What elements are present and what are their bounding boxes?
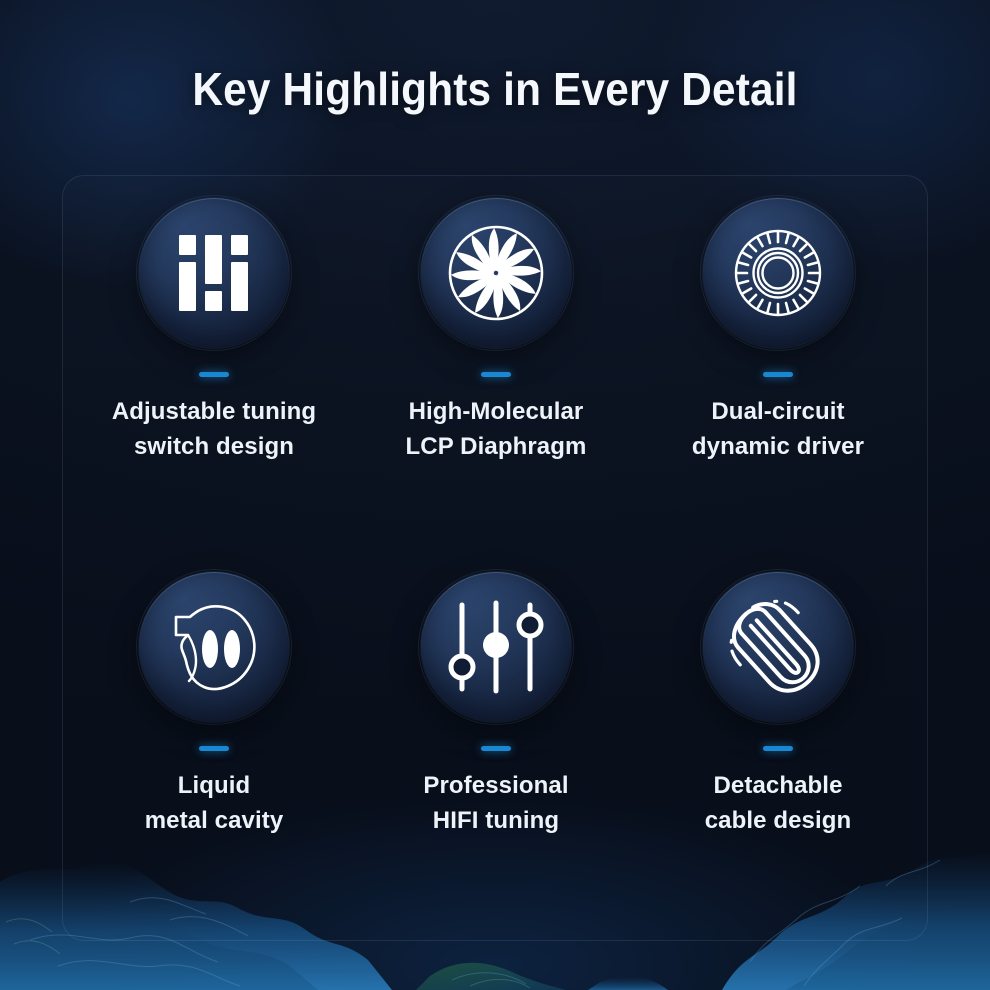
feature-label-line1: Dual-circuit bbox=[692, 395, 864, 430]
feature-label-line2: metal cavity bbox=[145, 804, 284, 839]
feature-label-line2: dynamic driver bbox=[692, 430, 864, 465]
feature-label-line1: Detachable bbox=[705, 769, 852, 804]
accent-divider bbox=[481, 746, 511, 751]
feature-item-tuning-switch[interactable]: Adjustable tuning switch design bbox=[73, 198, 355, 566]
accent-divider bbox=[481, 372, 511, 377]
feature-label: Dual-circuit dynamic driver bbox=[692, 395, 864, 465]
accent-divider bbox=[763, 746, 793, 751]
feature-label-line2: cable design bbox=[705, 804, 852, 839]
hifi-sliders-icon bbox=[448, 599, 544, 695]
feature-label: Liquid metal cavity bbox=[145, 769, 284, 839]
feature-label-line2: switch design bbox=[112, 430, 316, 465]
feature-label-line1: Adjustable tuning bbox=[112, 395, 316, 430]
feature-item-lcp-diaphragm[interactable]: High-Molecular LCP Diaphragm bbox=[355, 198, 637, 566]
accent-divider bbox=[763, 372, 793, 377]
highlights-card: Adjustable tuning switch design bbox=[62, 175, 928, 941]
feature-item-dynamic-driver[interactable]: Dual-circuit dynamic driver bbox=[637, 198, 919, 566]
feature-label-line1: High-Molecular bbox=[406, 395, 587, 430]
feature-badge bbox=[421, 572, 571, 722]
accent-divider bbox=[199, 746, 229, 751]
feature-badge bbox=[139, 572, 289, 722]
dynamic-driver-icon bbox=[726, 221, 830, 325]
feature-label: Adjustable tuning switch design bbox=[112, 395, 316, 465]
promo-page: Key Highlights in Every Detail bbox=[0, 0, 990, 990]
feature-badge bbox=[139, 198, 289, 348]
feature-badge bbox=[703, 198, 853, 348]
feature-label: High-Molecular LCP Diaphragm bbox=[406, 395, 587, 465]
lcp-diaphragm-icon bbox=[444, 221, 548, 325]
page-title: Key Highlights in Every Detail bbox=[40, 62, 951, 116]
feature-label-line1: Liquid bbox=[145, 769, 284, 804]
metal-cavity-icon bbox=[162, 595, 266, 699]
feature-label: Professional HIFI tuning bbox=[423, 769, 568, 839]
feature-label-line1: Professional bbox=[423, 769, 568, 804]
highlights-grid: Adjustable tuning switch design bbox=[63, 176, 929, 942]
feature-badge bbox=[703, 572, 853, 722]
feature-item-metal-cavity[interactable]: Liquid metal cavity bbox=[73, 566, 355, 934]
accent-divider bbox=[199, 372, 229, 377]
feature-label-line2: LCP Diaphragm bbox=[406, 430, 587, 465]
tuning-switch-icon bbox=[175, 235, 253, 311]
feature-item-hifi-tuning[interactable]: Professional HIFI tuning bbox=[355, 566, 637, 934]
feature-label: Detachable cable design bbox=[705, 769, 852, 839]
detachable-cable-icon bbox=[726, 595, 830, 699]
feature-badge bbox=[421, 198, 571, 348]
feature-label-line2: HIFI tuning bbox=[423, 804, 568, 839]
feature-item-detachable-cable[interactable]: Detachable cable design bbox=[637, 566, 919, 934]
